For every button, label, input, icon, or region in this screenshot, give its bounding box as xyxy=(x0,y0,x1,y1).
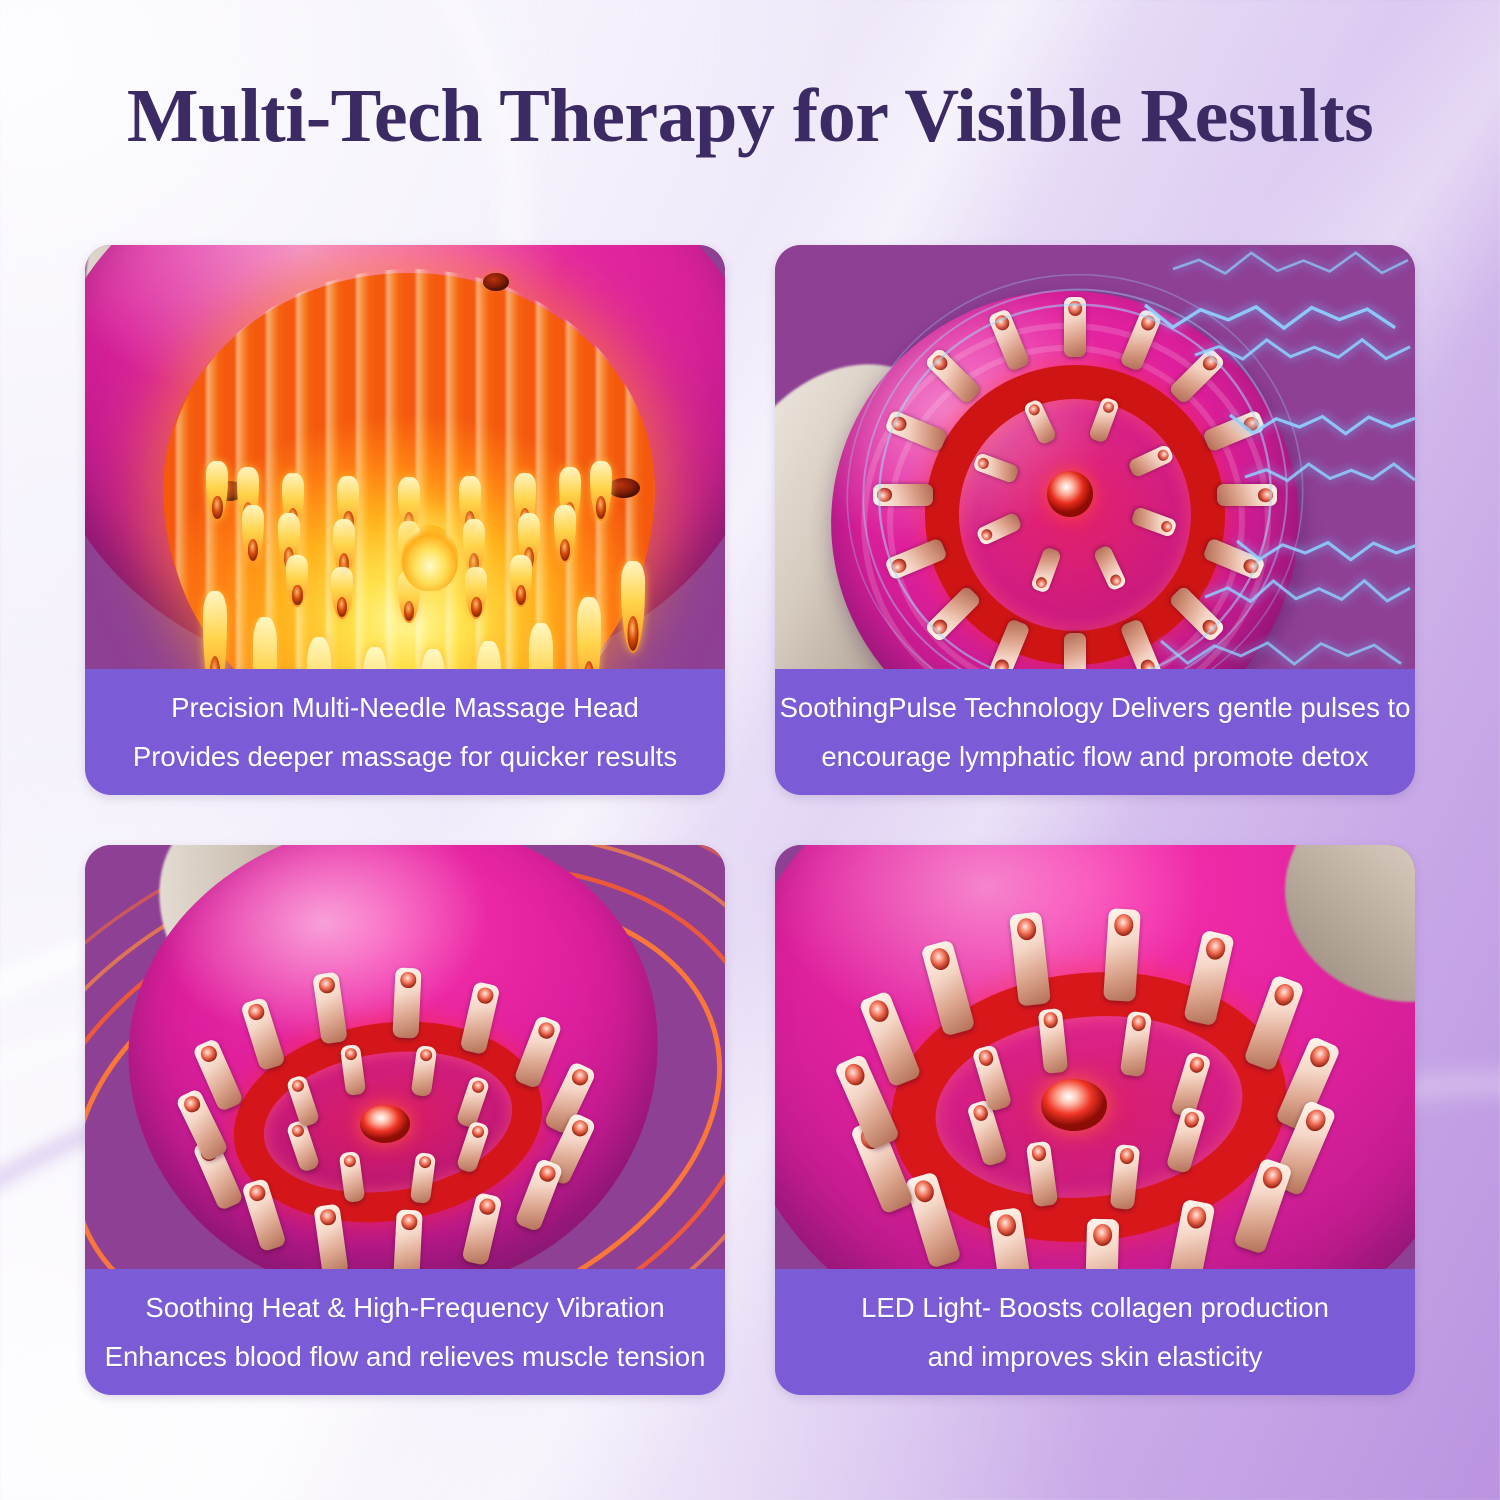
massage-pin-tip xyxy=(318,976,336,995)
massage-pin-nub xyxy=(248,539,258,561)
card-caption-precision-multi-needle: Precision Multi-Needle Massage Head Prov… xyxy=(85,669,725,795)
caption-line-1: Soothing Heat & High-Frequency Vibration xyxy=(145,1294,664,1322)
caption-line-2: encourage lymphatic flow and promote det… xyxy=(821,743,1368,771)
caption-line-2: Enhances blood flow and relieves muscle … xyxy=(105,1343,706,1371)
massage-pin-nub xyxy=(209,656,220,669)
massage-pin-tip xyxy=(401,1213,417,1231)
massage-pin xyxy=(253,617,277,669)
massage-pin-tip xyxy=(290,1078,305,1093)
massage-pin-tip xyxy=(343,1154,357,1168)
caption-line-1: LED Light- Boosts collagen production xyxy=(861,1294,1329,1322)
massage-pin-tip xyxy=(470,1123,485,1138)
massage-pin-tip xyxy=(181,1093,202,1115)
massage-pin-tip xyxy=(1260,1164,1285,1191)
pulse-arc xyxy=(1205,581,1410,602)
massage-pin-nub xyxy=(292,585,302,605)
massage-pin-nub xyxy=(212,496,222,519)
massage-pin-tip xyxy=(471,1079,486,1094)
caption-line-1: Precision Multi-Needle Massage Head xyxy=(171,694,639,722)
massage-pin xyxy=(1103,908,1141,1002)
massage-pin-tip xyxy=(247,1183,267,1204)
pulse-arc xyxy=(1173,253,1408,274)
massage-pin xyxy=(529,623,553,669)
massage-pin xyxy=(394,1210,423,1269)
pulse-halo-ring xyxy=(844,268,1306,669)
massage-pin-tip xyxy=(319,1208,337,1227)
massage-pin-tip xyxy=(928,946,952,972)
card-image-precision-multi-needle xyxy=(85,245,725,669)
feature-card-precision-multi-needle[interactable]: Precision Multi-Needle Massage Head Prov… xyxy=(85,245,725,795)
massage-pin-tip xyxy=(569,1066,590,1088)
massage-pin-tip xyxy=(1307,1042,1333,1070)
card-image-heat-vibration xyxy=(85,845,725,1269)
massage-pin xyxy=(577,597,601,669)
card3-center-led xyxy=(360,1105,410,1143)
massage-pin-tip xyxy=(1204,935,1228,961)
caption-line-2: and improves skin elasticity xyxy=(928,1343,1263,1371)
massage-pin-tip xyxy=(536,1020,557,1041)
massage-pin-tip xyxy=(419,1047,433,1061)
massage-pin-nub xyxy=(627,616,638,651)
massage-pin-tip xyxy=(476,986,495,1006)
massage-pin-tip xyxy=(1043,1012,1059,1029)
card-caption-heat-vibration: Soothing Heat & High-Frequency Vibration… xyxy=(85,1269,725,1395)
massage-pin-tip xyxy=(345,1047,358,1060)
feature-card-grid: Precision Multi-Needle Massage Head Prov… xyxy=(85,245,1415,1395)
card1-top-port xyxy=(483,273,509,291)
massage-pin xyxy=(392,967,421,1038)
card2-pulse-arcs xyxy=(775,245,1415,669)
massage-pin-tip xyxy=(1188,1056,1206,1075)
massage-pin-tip xyxy=(1093,1223,1113,1246)
massage-pin-nub xyxy=(404,601,414,621)
page-title: Multi-Tech Therapy for Visible Results xyxy=(0,78,1500,154)
massage-pin-tip xyxy=(1114,913,1135,936)
pulse-halo-ring xyxy=(825,250,1325,669)
massage-pin xyxy=(1085,1218,1119,1269)
massage-pin-tip xyxy=(418,1155,431,1168)
card1-center-heat-emblem xyxy=(402,525,458,591)
card-image-soothingpulse xyxy=(775,245,1415,669)
massage-pin-nub xyxy=(595,496,605,519)
infographic-page: Multi-Tech Therapy for Visible Results P… xyxy=(0,0,1500,1500)
massage-pin-tip xyxy=(1119,1148,1135,1165)
card4-center-led xyxy=(1041,1079,1107,1131)
massage-pin-tip xyxy=(1303,1106,1329,1134)
massage-pin-tip xyxy=(1272,981,1298,1008)
massage-pin-tip xyxy=(537,1163,558,1184)
massage-pin-tip xyxy=(1131,1015,1147,1032)
massage-pin-nub xyxy=(516,585,526,605)
card1-side-port-right xyxy=(608,478,640,498)
massage-pin-tip xyxy=(912,1178,937,1205)
massage-pin-tip xyxy=(977,1048,995,1067)
massage-pin-nub xyxy=(336,597,346,617)
massage-pin-tip xyxy=(1016,916,1038,940)
massage-pin-tip xyxy=(866,997,892,1025)
card-caption-soothingpulse: SoothingPulse Technology Delivers gentle… xyxy=(775,669,1415,795)
massage-pin-tip xyxy=(198,1043,219,1065)
massage-pin-nub xyxy=(583,661,594,669)
massage-pin-tip xyxy=(842,1060,869,1088)
massage-pin-tip xyxy=(477,1197,496,1217)
massage-pin-tip xyxy=(1185,1205,1208,1230)
caption-line-2: Provides deeper massage for quicker resu… xyxy=(133,743,677,771)
pulse-halo-ring xyxy=(806,245,1344,669)
card-image-led-light xyxy=(775,845,1415,1269)
feature-card-soothingpulse[interactable]: SoothingPulse Technology Delivers gentle… xyxy=(775,245,1415,795)
feature-card-heat-vibration[interactable]: Soothing Heat & High-Frequency Vibration… xyxy=(85,845,725,1395)
massage-pin-tip xyxy=(995,1213,1017,1238)
massage-pin-tip xyxy=(1031,1144,1047,1161)
massage-pin-tip xyxy=(569,1117,590,1139)
massage-pin-nub xyxy=(471,597,481,617)
feature-card-led-light[interactable]: LED Light- Boosts collagen production an… xyxy=(775,845,1415,1395)
massage-pin-tip xyxy=(1183,1111,1201,1130)
massage-pin-tip xyxy=(399,971,415,988)
massage-pin xyxy=(203,591,227,669)
caption-line-1: SoothingPulse Technology Delivers gentle… xyxy=(780,694,1411,722)
card-caption-led-light: LED Light- Boosts collagen production an… xyxy=(775,1269,1415,1395)
massage-pin-nub xyxy=(560,539,570,561)
massage-pin-tip xyxy=(246,1001,266,1022)
